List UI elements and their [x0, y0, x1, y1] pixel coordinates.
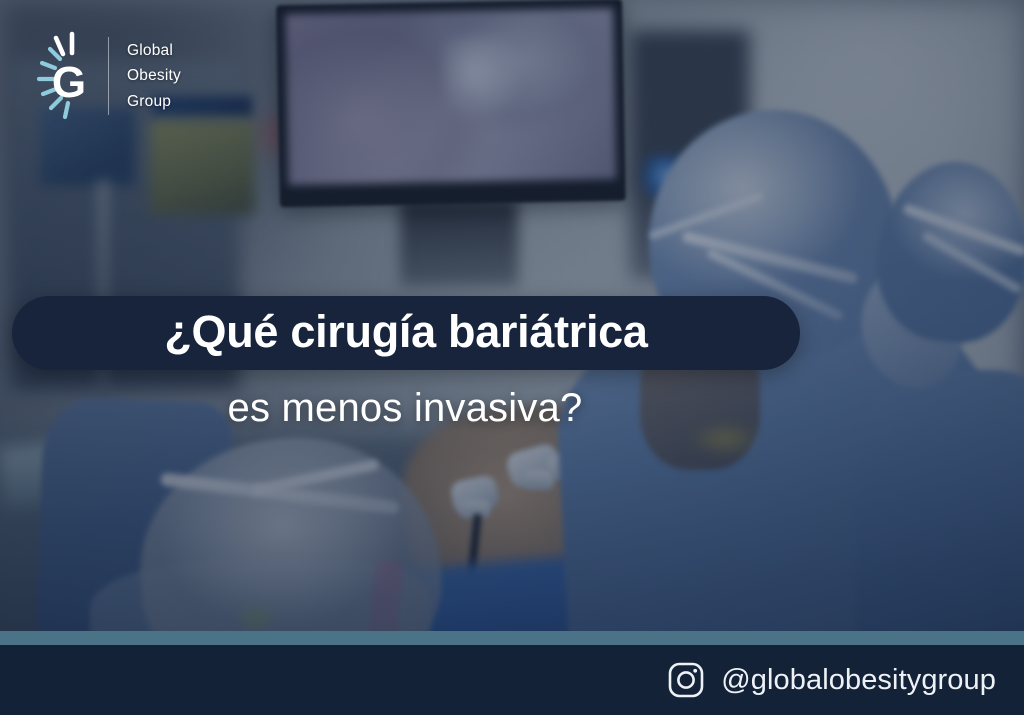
headline-block: ¿Qué cirugía bariátrica es menos invasiv…	[0, 296, 1024, 431]
svg-text:G: G	[52, 58, 86, 107]
footer-bar: @globalobesitygroup	[0, 645, 1024, 715]
brand-name-line-1: Global	[127, 38, 181, 63]
brand-name-line-3: Group	[127, 89, 181, 114]
brand-name: Global Obesity Group	[127, 38, 181, 113]
logo-divider	[108, 37, 109, 115]
social-handle-group[interactable]: @globalobesitygroup	[667, 661, 996, 699]
social-media-graphic: G Global Obesity Group ¿Qué cirugía bari…	[0, 0, 1024, 715]
sunburst-g-logo-icon: G	[36, 30, 106, 122]
instagram-handle[interactable]: @globalobesitygroup	[721, 664, 996, 697]
brand-logo[interactable]: G Global Obesity Group	[36, 30, 181, 122]
headline-banner: ¿Qué cirugía bariátrica	[12, 296, 800, 370]
headline-line-1: ¿Qué cirugía bariátrica	[164, 306, 647, 361]
brand-name-line-2: Obesity	[127, 63, 181, 88]
footer-accent-divider	[0, 631, 1024, 645]
instagram-icon[interactable]	[667, 661, 705, 699]
headline-line-2: es menos invasiva?	[0, 386, 810, 431]
